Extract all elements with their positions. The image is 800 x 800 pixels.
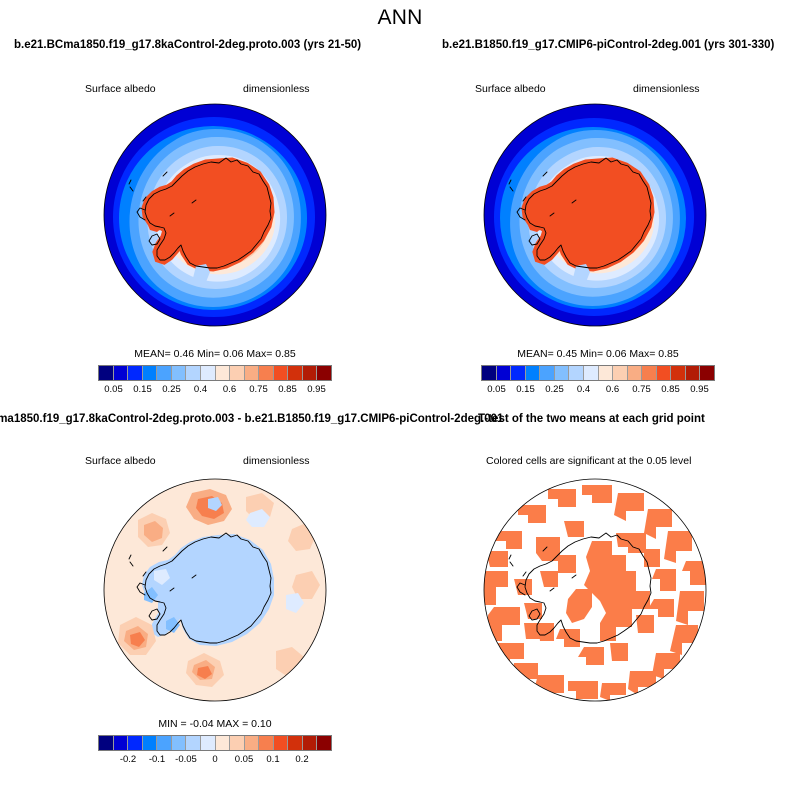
difference-cell-3[interactable] (142, 736, 157, 750)
difference-cell-4[interactable] (156, 736, 171, 750)
difference-tick-3: 0 (212, 754, 217, 765)
albedo-right-tick-3: 0.4 (577, 384, 590, 395)
stats-top-right: MEAN= 0.45 Min= 0.06 Max= 0.85 (468, 348, 728, 360)
albedo-right-cell-6[interactable] (568, 366, 583, 380)
albedo-right-cell-5[interactable] (554, 366, 569, 380)
difference-cell-8[interactable] (215, 736, 230, 750)
colorbar-strip-albedo-left[interactable] (98, 365, 332, 381)
colorbar-top-right: MEAN= 0.45 Min= 0.06 Max= 0.85 0.050.150… (468, 348, 728, 398)
variable-label-difference: Surface albedo (85, 455, 156, 467)
map-top-right[interactable] (480, 100, 710, 330)
albedo-right-cell-13[interactable] (670, 366, 685, 380)
difference-cell-2[interactable] (127, 736, 142, 750)
difference-tick-4: 0.05 (235, 754, 254, 765)
colorbar-ticks-albedo-left: 0.050.150.250.40.60.750.850.95 (99, 384, 331, 398)
units-label-top-right: dimensionless (633, 83, 700, 95)
polar-map-albedo-picontrol (480, 100, 710, 330)
albedo-left-cell-13[interactable] (287, 366, 302, 380)
polar-map-albedo-difference (100, 475, 330, 705)
albedo-right-cell-15[interactable] (699, 366, 714, 380)
difference-cell-14[interactable] (302, 736, 317, 750)
colorbar-ticks-difference: -0.2-0.1-0.0500.050.10.2 (99, 754, 331, 768)
albedo-left-tick-7: 0.95 (307, 384, 326, 395)
albedo-left-cell-5[interactable] (171, 366, 186, 380)
albedo-right-tick-4: 0.6 (606, 384, 619, 395)
difference-cell-10[interactable] (244, 736, 259, 750)
subtitle-ttest: Colored cells are significant at the 0.0… (486, 455, 691, 467)
difference-tick-6: 0.2 (295, 754, 308, 765)
albedo-right-tick-7: 0.95 (690, 384, 709, 395)
albedo-left-cell-11[interactable] (258, 366, 273, 380)
albedo-right-cell-2[interactable] (510, 366, 525, 380)
albedo-right-tick-0: 0.05 (487, 384, 506, 395)
difference-tick-5: 0.1 (266, 754, 279, 765)
albedo-right-cell-7[interactable] (583, 366, 598, 380)
albedo-left-cell-8[interactable] (215, 366, 230, 380)
difference-tick-1: -0.1 (149, 754, 165, 765)
albedo-left-cell-12[interactable] (273, 366, 288, 380)
map-difference[interactable] (100, 475, 330, 705)
albedo-left-cell-7[interactable] (200, 366, 215, 380)
albedo-right-tick-6: 0.85 (661, 384, 680, 395)
difference-cell-5[interactable] (171, 736, 186, 750)
difference-tick-2: -0.05 (175, 754, 197, 765)
units-label-top-left: dimensionless (243, 83, 310, 95)
difference-cell-11[interactable] (258, 736, 273, 750)
albedo-right-cell-0[interactable] (482, 366, 496, 380)
units-label-difference: dimensionless (243, 455, 310, 467)
albedo-right-cell-4[interactable] (539, 366, 554, 380)
albedo-left-tick-5: 0.75 (249, 384, 268, 395)
albedo-right-cell-9[interactable] (612, 366, 627, 380)
difference-cell-0[interactable] (99, 736, 113, 750)
albedo-left-tick-2: 0.25 (162, 384, 181, 395)
difference-cell-13[interactable] (287, 736, 302, 750)
panel-header-difference: b.e21.BCma1850.f19_g17.8kaControl-2deg.p… (0, 413, 503, 425)
albedo-left-tick-6: 0.85 (278, 384, 297, 395)
colorbar-strip-difference[interactable] (98, 735, 332, 751)
albedo-left-cell-4[interactable] (156, 366, 171, 380)
albedo-left-cell-6[interactable] (185, 366, 200, 380)
albedo-left-cell-2[interactable] (127, 366, 142, 380)
albedo-left-tick-1: 0.15 (133, 384, 152, 395)
figure-main-title: ANN (0, 6, 800, 30)
colorbar-difference: MIN = -0.04 MAX = 0.10 -0.2-0.1-0.0500.0… (85, 718, 345, 768)
colorbar-top-left: MEAN= 0.46 Min= 0.06 Max= 0.85 0.050.150… (85, 348, 345, 398)
colorbar-ticks-albedo-right: 0.050.150.250.40.60.750.850.95 (482, 384, 714, 398)
albedo-right-cell-12[interactable] (656, 366, 671, 380)
albedo-right-cell-11[interactable] (641, 366, 656, 380)
colorbar-strip-albedo-right[interactable] (481, 365, 715, 381)
albedo-left-tick-3: 0.4 (194, 384, 207, 395)
polar-map-significance (480, 475, 710, 705)
difference-cell-1[interactable] (113, 736, 128, 750)
albedo-right-tick-2: 0.25 (545, 384, 564, 395)
albedo-left-cell-0[interactable] (99, 366, 113, 380)
albedo-right-cell-10[interactable] (627, 366, 642, 380)
stats-difference: MIN = -0.04 MAX = 0.10 (85, 718, 345, 730)
panel-header-top-right: b.e21.B1850.f19_g17.CMIP6-piControl-2deg… (442, 39, 774, 51)
polar-map-albedo-control (100, 100, 330, 330)
albedo-left-tick-0: 0.05 (104, 384, 123, 395)
difference-cell-15[interactable] (316, 736, 331, 750)
albedo-right-tick-1: 0.15 (516, 384, 535, 395)
panel-header-top-left: b.e21.BCma1850.f19_g17.8kaControl-2deg.p… (14, 39, 361, 51)
albedo-right-tick-5: 0.75 (632, 384, 651, 395)
difference-cell-12[interactable] (273, 736, 288, 750)
albedo-left-cell-1[interactable] (113, 366, 128, 380)
panel-header-ttest: T-test of the two means at each grid poi… (478, 413, 705, 425)
difference-tick-0: -0.2 (120, 754, 136, 765)
difference-cell-9[interactable] (229, 736, 244, 750)
stats-top-left: MEAN= 0.46 Min= 0.06 Max= 0.85 (85, 348, 345, 360)
albedo-right-cell-3[interactable] (525, 366, 540, 380)
albedo-left-cell-14[interactable] (302, 366, 317, 380)
map-top-left[interactable] (100, 100, 330, 330)
variable-label-top-right: Surface albedo (475, 83, 546, 95)
difference-cell-7[interactable] (200, 736, 215, 750)
difference-cell-6[interactable] (185, 736, 200, 750)
map-ttest[interactable] (480, 475, 710, 705)
albedo-right-cell-14[interactable] (685, 366, 700, 380)
albedo-left-cell-10[interactable] (244, 366, 259, 380)
albedo-left-tick-4: 0.6 (223, 384, 236, 395)
albedo-right-cell-8[interactable] (598, 366, 613, 380)
albedo-left-cell-3[interactable] (142, 366, 157, 380)
albedo-left-cell-9[interactable] (229, 366, 244, 380)
albedo-left-cell-15[interactable] (316, 366, 331, 380)
albedo-right-cell-1[interactable] (496, 366, 511, 380)
variable-label-top-left: Surface albedo (85, 83, 156, 95)
